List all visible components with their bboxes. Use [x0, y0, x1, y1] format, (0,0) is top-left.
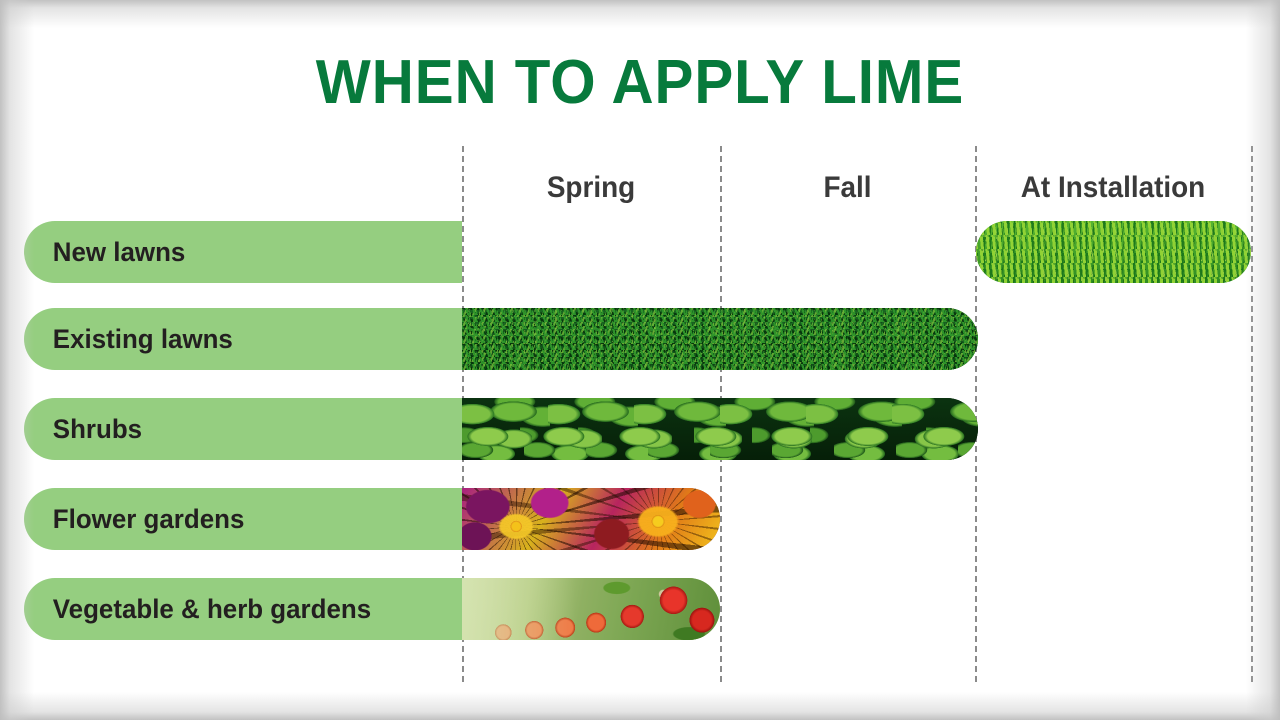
- column-divider-4: [1251, 146, 1253, 682]
- new-sod-grass-photo: [976, 221, 1251, 283]
- column-header-spring: Spring: [471, 170, 711, 206]
- tomatoes-on-vine-photo: [462, 578, 720, 640]
- row-label-text: Shrubs: [24, 414, 142, 444]
- row-label-vegetable-herb-gardens: Vegetable & herb gardens: [24, 578, 462, 640]
- column-header-at-installation: At Installation: [985, 170, 1242, 206]
- infographic-canvas: WHEN TO APPLY LIME Spring Fall At Instal…: [0, 0, 1280, 720]
- cell-existing-lawns-spring-fall: [462, 308, 978, 370]
- cell-flower-gardens-spring: [462, 488, 720, 550]
- cell-new-lawns-at-installation: [976, 221, 1251, 283]
- page-title: WHEN TO APPLY LIME: [38, 52, 1241, 114]
- row-label-text: Existing lawns: [24, 324, 233, 354]
- row-label-text: New lawns: [24, 237, 185, 267]
- row-label-flower-gardens: Flower gardens: [24, 488, 462, 550]
- green-shrub-leaves-photo: [462, 398, 978, 460]
- row-label-new-lawns: New lawns: [24, 221, 462, 283]
- row-label-text: Vegetable & herb gardens: [24, 594, 371, 624]
- row-label-text: Flower gardens: [24, 504, 244, 534]
- cell-vegetable-herb-gardens-spring: [462, 578, 720, 640]
- column-header-fall: Fall: [729, 170, 966, 206]
- pansy-flowers-photo: [462, 488, 720, 550]
- row-label-existing-lawns: Existing lawns: [24, 308, 462, 370]
- cell-shrubs-spring-fall: [462, 398, 978, 460]
- row-label-shrubs: Shrubs: [24, 398, 462, 460]
- dense-lawn-grass-photo: [462, 308, 978, 370]
